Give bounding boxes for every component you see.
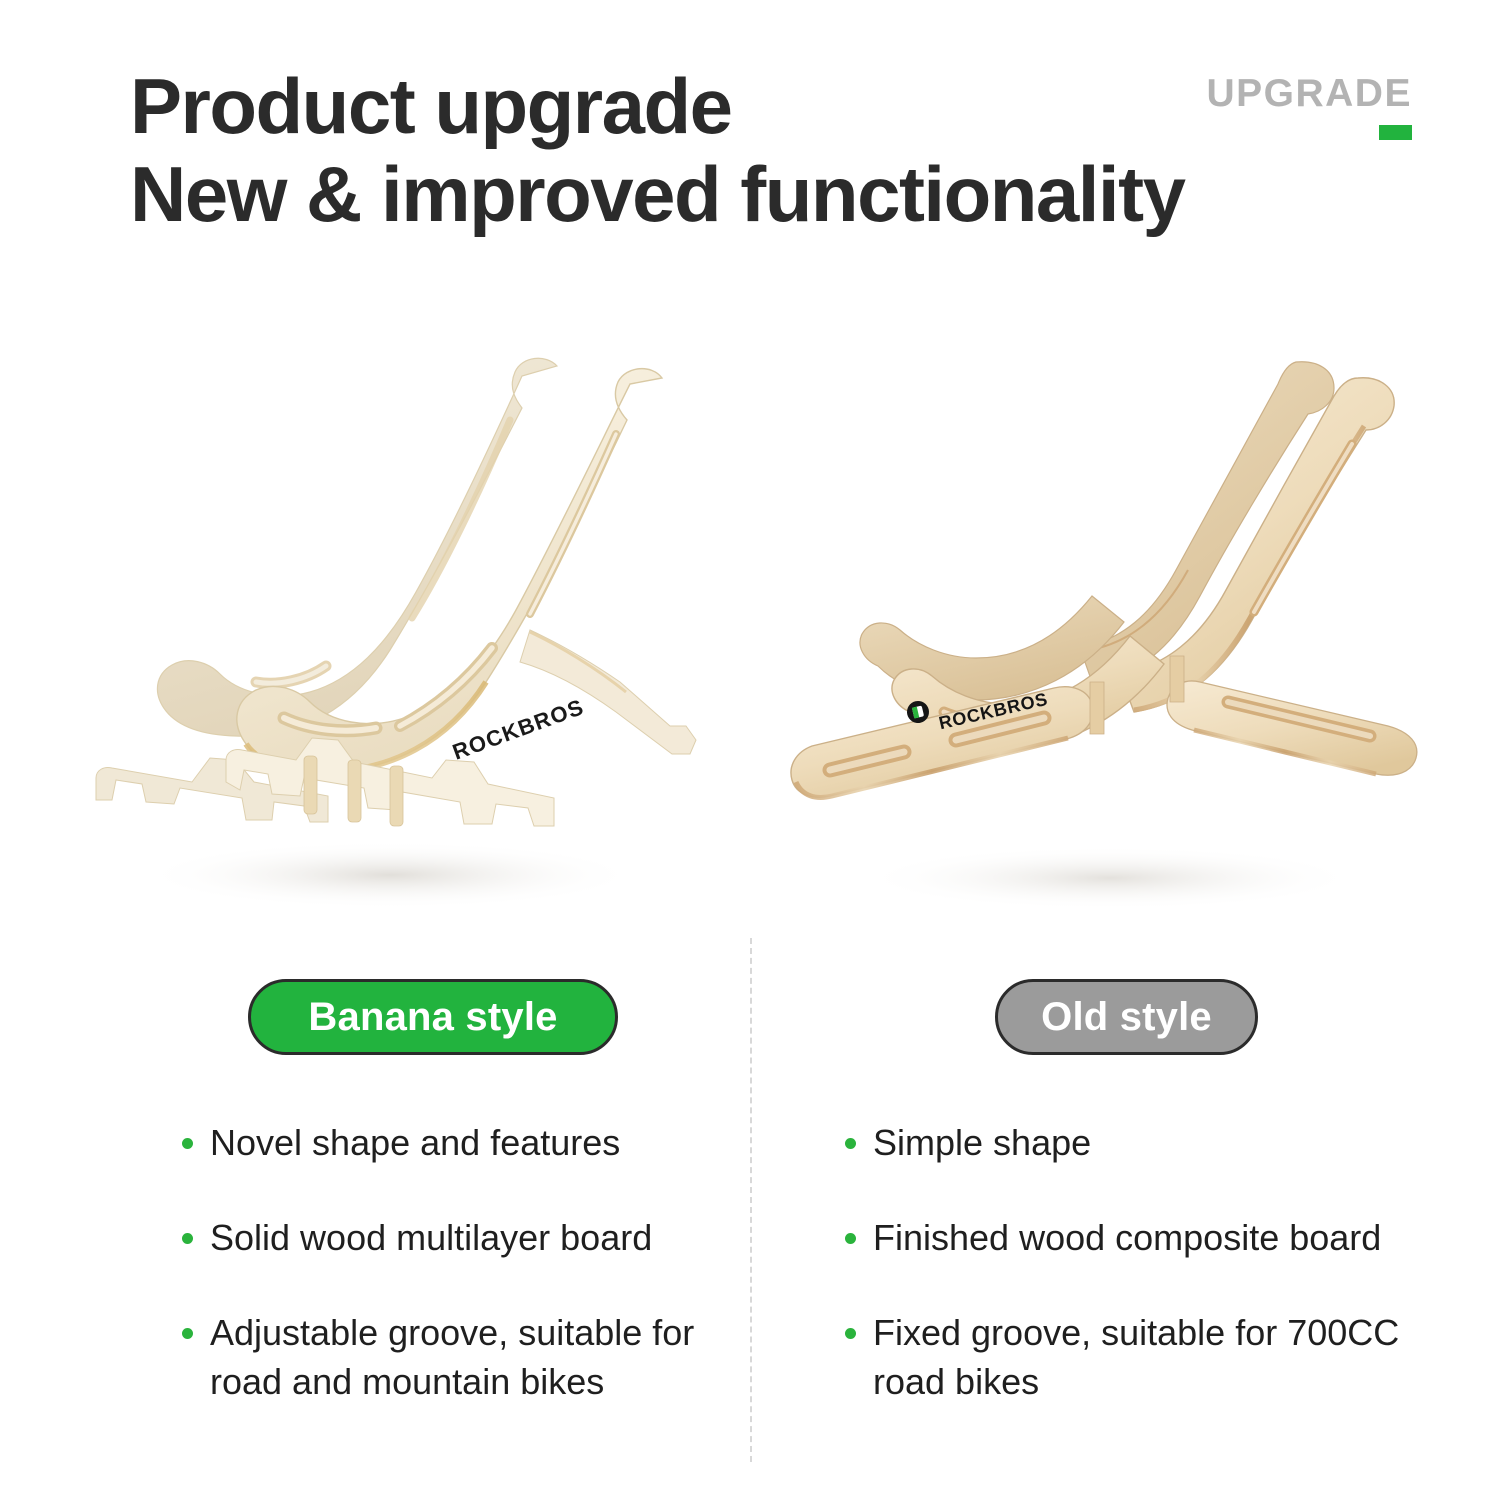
product-image-banana-style: ROCKBROS [60, 330, 750, 940]
list-item: Finished wood composite board [845, 1213, 1445, 1262]
list-item: Fixed groove, suitable for 700CC road bi… [845, 1308, 1445, 1406]
list-item: Solid wood multilayer board [182, 1213, 762, 1262]
upgrade-badge: UPGRADE [1206, 72, 1412, 140]
feature-text: Solid wood multilayer board [210, 1213, 652, 1262]
badge-banana-style-label: Banana style [308, 995, 557, 1040]
bullet-dot-icon [845, 1233, 856, 1244]
feature-text: Fixed groove, suitable for 700CC road bi… [873, 1308, 1445, 1406]
bullet-dot-icon [845, 1138, 856, 1149]
bullet-dot-icon [182, 1328, 193, 1339]
bullet-dot-icon [182, 1138, 193, 1149]
list-item: Simple shape [845, 1118, 1445, 1167]
feature-list-old-style: Simple shape Finished wood composite boa… [845, 1118, 1445, 1452]
badge-old-style-label: Old style [1041, 995, 1212, 1040]
infographic-page: Product upgrade New & improved functiona… [0, 0, 1500, 1500]
bullet-dot-icon [845, 1328, 856, 1339]
feature-text: Novel shape and features [210, 1118, 620, 1167]
upgrade-accent-bar [1379, 125, 1412, 140]
feature-text: Adjustable groove, suitable for road and… [210, 1308, 762, 1406]
feature-list-banana-style: Novel shape and features Solid wood mult… [182, 1118, 762, 1452]
bullet-dot-icon [182, 1233, 193, 1244]
product-image-old-style: ROCKBROS [760, 330, 1460, 940]
feature-text: Finished wood composite board [873, 1213, 1381, 1262]
list-item: Adjustable groove, suitable for road and… [182, 1308, 762, 1406]
title-line-2: New & improved functionality [130, 150, 1460, 238]
badge-old-style[interactable]: Old style [995, 979, 1258, 1055]
list-item: Novel shape and features [182, 1118, 762, 1167]
upgrade-label: UPGRADE [1206, 72, 1412, 116]
badge-banana-style[interactable]: Banana style [248, 979, 618, 1055]
feature-text: Simple shape [873, 1118, 1091, 1167]
